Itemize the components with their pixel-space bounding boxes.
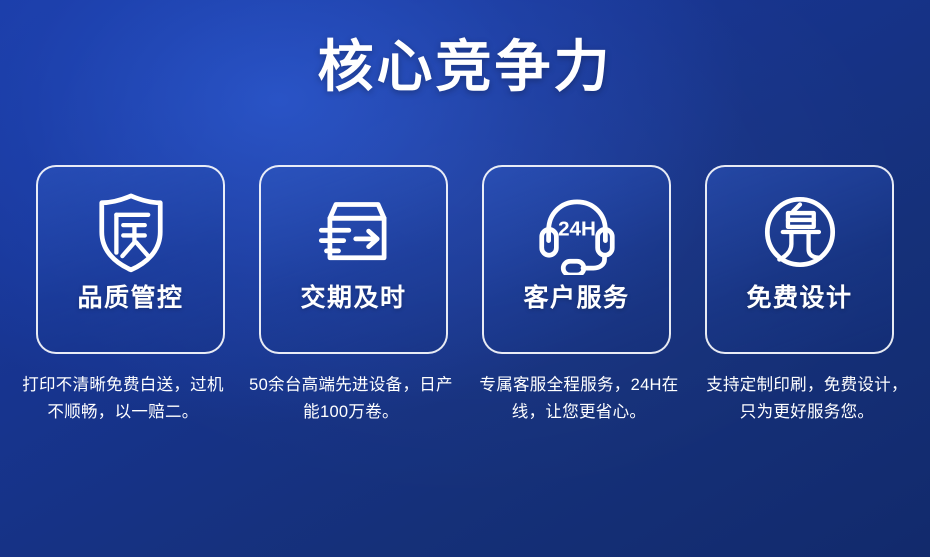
feature-card-quality[interactable]: 品质管控 [36,165,225,354]
feature-card-label: 客户服务 [523,283,629,313]
feature-description: 打印不清晰免费白送，过机不顺畅，以一赔二。 [14,372,232,426]
page-title: 核心竞争力 [0,36,930,98]
feature-card-label: 品质管控 [77,283,183,313]
feature-card-row: 品质管控 交期及时 [36,165,894,354]
headset-24h-label: 24H [558,217,596,240]
feature-card-label: 交期及时 [300,283,406,313]
feature-description: 专属客服全程服务，24H在线，让您更省心。 [470,372,688,426]
feature-card-delivery[interactable]: 交期及时 [259,165,448,354]
feature-description: 支持定制印刷，免费设计，只为更好服务您。 [698,372,916,426]
core-competitiveness-banner: 核心竞争力 品质管控 [0,0,930,557]
feature-description-row: 打印不清晰免费白送，过机不顺畅，以一赔二。 50余台高端先进设备，日产能100万… [14,372,916,426]
feature-card-label: 免费设计 [746,283,852,313]
free-design-icon [757,189,843,275]
shield-quality-icon [88,189,174,275]
headset-support-icon: 24H [534,189,620,275]
feature-card-service[interactable]: 24H 客户服务 [482,165,671,354]
feature-card-design[interactable]: 免费设计 [705,165,894,354]
feature-description: 50余台高端先进设备，日产能100万卷。 [242,372,460,426]
package-delivery-icon [311,189,397,275]
